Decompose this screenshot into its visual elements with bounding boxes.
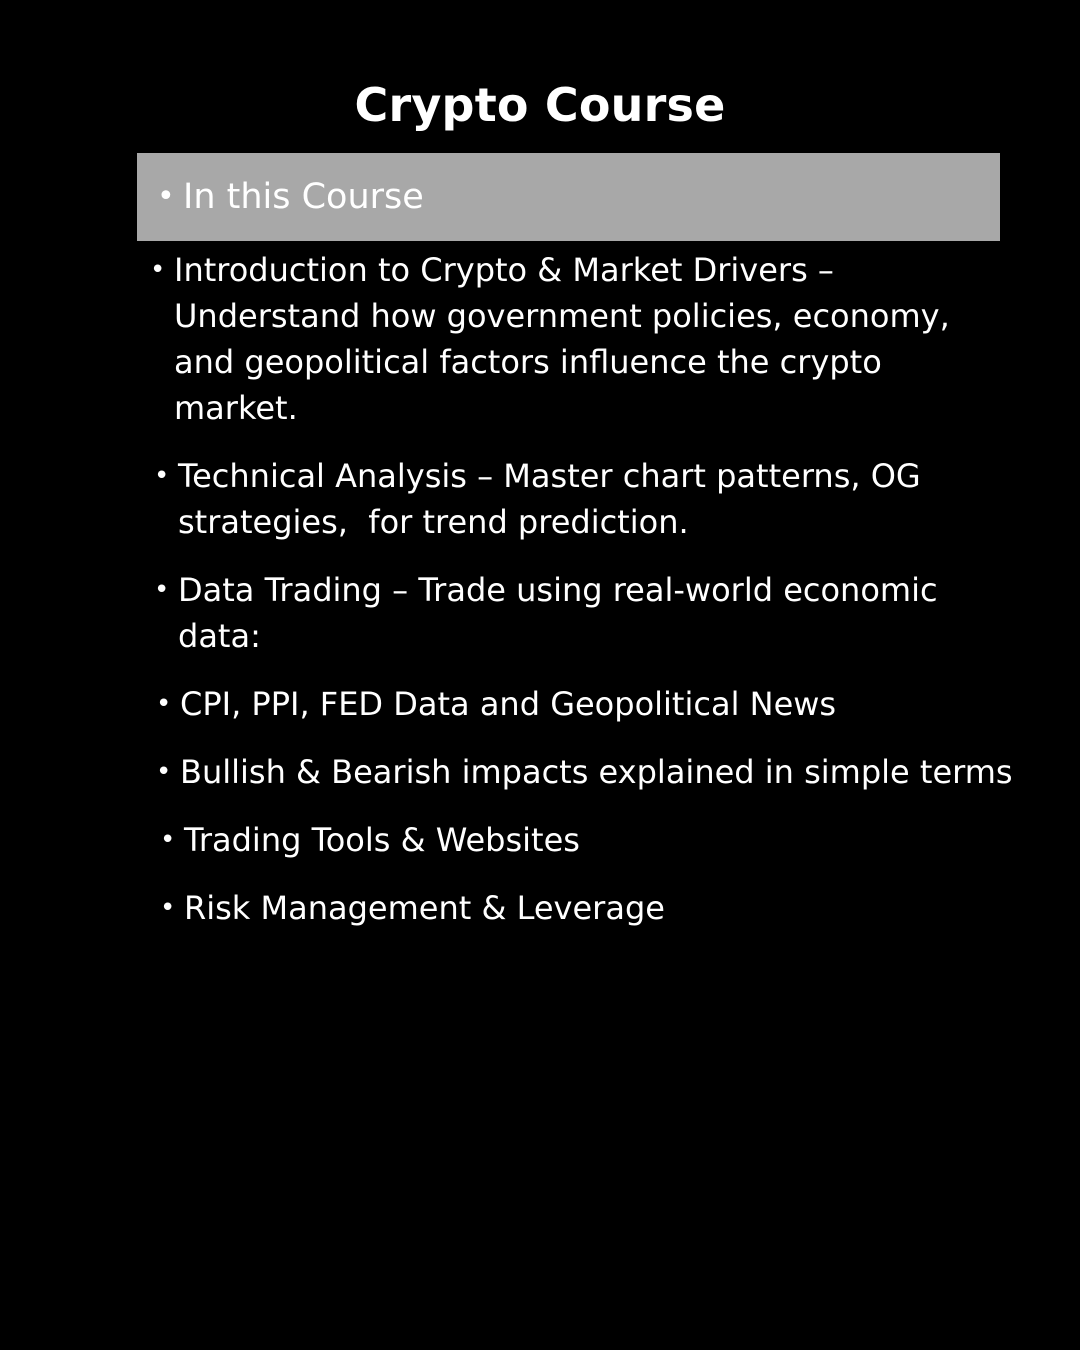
list-item: • Data Trading – Trade using real-world … [154,567,1019,659]
banner-label: In this Course [183,176,424,218]
slide-canvas: Crypto Course • In this Course • Introdu… [0,0,1080,1350]
course-bullet-list: • Introduction to Crypto & Market Driver… [140,247,1020,931]
bullet-icon: • [154,453,178,499]
list-item: • CPI, PPI, FED Data and Geopolitical Ne… [156,681,1020,727]
bullet-icon: • [160,817,184,863]
list-item: • Introduction to Crypto & Market Driver… [150,247,1010,431]
bullet-icon: • [156,749,180,795]
list-item-text: Introduction to Crypto & Market Drivers … [174,247,1010,431]
bullet-icon: • [150,247,174,293]
list-item-text: Trading Tools & Websites [184,817,1020,863]
list-item-text: CPI, PPI, FED Data and Geopolitical News [180,681,1020,727]
list-item-text: Technical Analysis – Master chart patter… [178,453,1014,545]
list-item-text: Risk Management & Leverage [184,885,1020,931]
list-item-text: Data Trading – Trade using real-world ec… [178,567,1019,659]
page-title: Crypto Course [0,76,1080,134]
list-item-text: Bullish & Bearish impacts explained in s… [180,749,1016,795]
list-item: • Trading Tools & Websites [160,817,1020,863]
list-item: • Risk Management & Leverage [160,885,1020,931]
bullet-icon: • [160,885,184,931]
bullet-icon: • [157,182,183,212]
highlighted-section-banner: • In this Course [137,153,1000,241]
list-item: • Bullish & Bearish impacts explained in… [156,749,1016,795]
list-item: • Technical Analysis – Master chart patt… [154,453,1014,545]
bullet-icon: • [156,681,180,727]
bullet-icon: • [154,567,178,613]
banner-row: • In this Course [137,153,1000,241]
